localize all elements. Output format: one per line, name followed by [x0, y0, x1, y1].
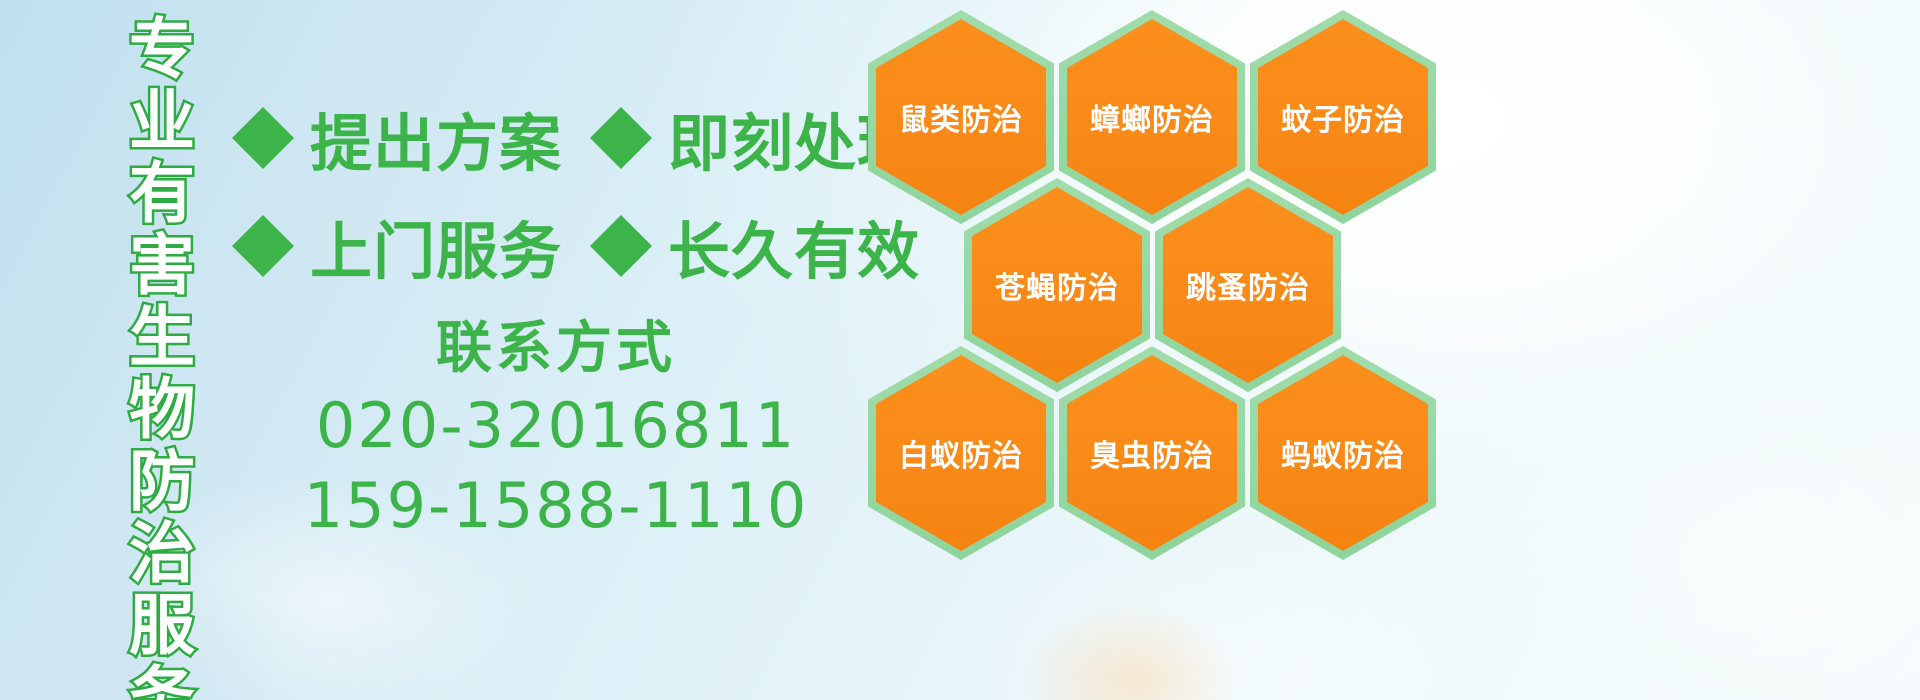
service-hex-rodent[interactable]: 鼠类防治	[868, 10, 1054, 224]
feature-list: 提出方案 即刻处理 上门服务 长久有效	[232, 84, 872, 300]
service-label: 白蚁防治	[899, 431, 1023, 475]
hex-inner: 鼠类防治	[876, 19, 1046, 215]
service-label: 臭虫防治	[1090, 431, 1214, 475]
feature-item-propose-plan: 提出方案	[232, 93, 562, 183]
diamond-bullet-icon	[232, 76, 294, 138]
service-hex-termite[interactable]: 白蚁防治	[868, 346, 1054, 560]
pest-control-banner: 专 业 有 害 生 物 防 治 服 务 提出方案 即刻处理 上门服务	[0, 0, 1920, 700]
service-hex-ant[interactable]: 蚂蚁防治	[1250, 346, 1436, 560]
contact-block: 联系方式 020-32016811 159-1588-1110	[236, 312, 876, 546]
service-hex-flea[interactable]: 跳蚤防治	[1155, 178, 1341, 392]
service-label: 蟑螂防治	[1090, 95, 1214, 139]
contact-heading: 联系方式	[236, 312, 876, 386]
service-hex-mosquito[interactable]: 蚊子防治	[1250, 10, 1436, 224]
service-label: 蚂蚁防治	[1281, 431, 1405, 475]
hex-inner: 蚂蚁防治	[1258, 355, 1428, 551]
feature-label: 提出方案	[310, 93, 562, 183]
vertical-title-char: 业	[129, 86, 195, 158]
diamond-bullet-icon	[590, 76, 652, 138]
hex-inner: 苍蝇防治	[972, 187, 1142, 383]
vertical-title-char: 专	[129, 14, 195, 86]
background-haze	[1500, 380, 1920, 700]
hex-inner: 白蚁防治	[876, 355, 1046, 551]
service-hex-cockroach[interactable]: 蟑螂防治	[1059, 10, 1245, 224]
contact-phone-landline[interactable]: 020-32016811	[236, 386, 876, 466]
hex-inner: 蟑螂防治	[1067, 19, 1237, 215]
service-label: 苍蝇防治	[995, 263, 1119, 307]
vertical-title-char: 务	[129, 662, 195, 700]
vertical-title-char: 服	[129, 590, 195, 662]
vertical-title-char: 害	[129, 230, 195, 302]
vertical-title: 专 业 有 害 生 物 防 治 服 务	[108, 14, 216, 686]
hex-inner: 臭虫防治	[1067, 355, 1237, 551]
service-label: 蚊子防治	[1281, 95, 1405, 139]
hex-inner: 跳蚤防治	[1163, 187, 1333, 383]
service-hex-fly[interactable]: 苍蝇防治	[964, 178, 1150, 392]
service-hex-bedbug[interactable]: 臭虫防治	[1059, 346, 1245, 560]
diamond-bullet-icon	[590, 184, 652, 246]
vertical-title-char: 有	[129, 158, 195, 230]
contact-phone-mobile[interactable]: 159-1588-1110	[236, 466, 876, 546]
vertical-title-char: 防	[129, 446, 195, 518]
vertical-title-char: 物	[129, 374, 195, 446]
hex-inner: 蚊子防治	[1258, 19, 1428, 215]
vertical-title-char: 治	[129, 518, 195, 590]
feature-label: 上门服务	[310, 201, 562, 291]
feature-row: 提出方案 即刻处理	[232, 84, 872, 192]
diamond-bullet-icon	[232, 184, 294, 246]
service-label: 鼠类防治	[899, 95, 1023, 139]
feature-item-onsite-service: 上门服务	[232, 201, 562, 291]
service-label: 跳蚤防治	[1186, 263, 1310, 307]
vertical-title-char: 生	[129, 302, 195, 374]
feature-row: 上门服务 长久有效	[232, 192, 872, 300]
service-honeycomb: 鼠类防治 蟑螂防治 蚊子防治 苍蝇防治 跳蚤防治 白蚁防治	[860, 0, 1460, 700]
